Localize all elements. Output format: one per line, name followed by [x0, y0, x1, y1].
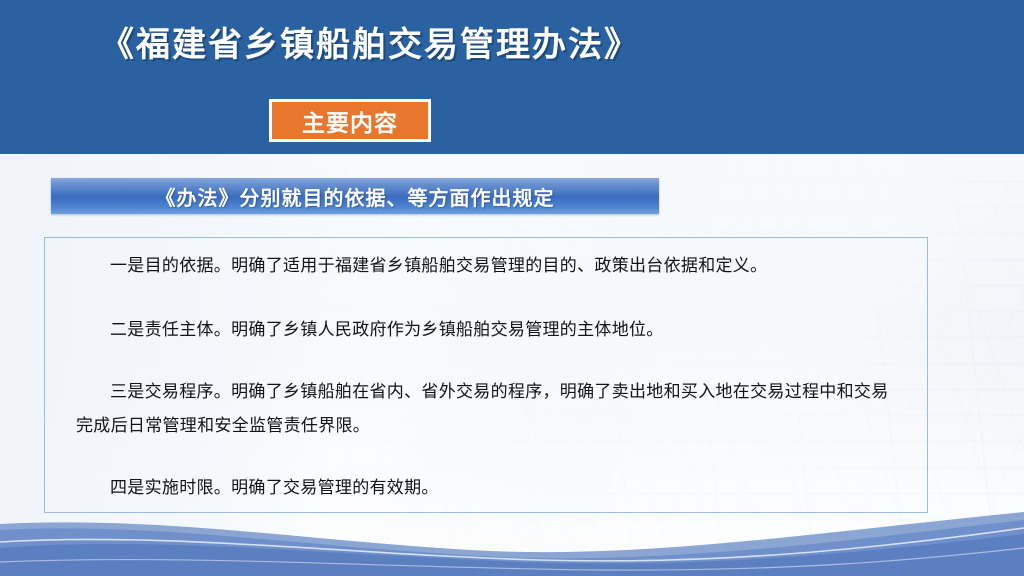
section-title-label: 《办法》分别就目的依据、等方面作出规定: [156, 182, 555, 211]
main-content-badge-label: 主要内容: [302, 104, 398, 138]
content-paragraph-3: 三是交易程序。明确了乡镇船舶在省内、省外交易的程序，明确了卖出地和买入地在交易过…: [76, 375, 902, 443]
content-paragraph-1: 一是目的依据。明确了适用于福建省乡镇船舶交易管理的目的、政策出台依据和定义。: [76, 249, 902, 283]
footer-wave-svg: [0, 496, 1024, 576]
content-paragraph-2: 二是责任主体。明确了乡镇人民政府作为乡镇船舶交易管理的主体地位。: [76, 313, 902, 347]
slide-root: 《福建省乡镇船舶交易管理办法》 主要内容 《办法》分别就目的依据、等方面作出规定…: [0, 0, 1024, 576]
content-box: 一是目的依据。明确了适用于福建省乡镇船舶交易管理的目的、政策出台依据和定义。 二…: [44, 237, 928, 513]
main-content-badge[interactable]: 主要内容: [269, 99, 431, 142]
section-title-bar: 《办法》分别就目的依据、等方面作出规定: [51, 178, 659, 214]
footer-wave-decoration: [0, 496, 1024, 576]
header-band: 《福建省乡镇船舶交易管理办法》 主要内容: [0, 0, 1024, 154]
page-title: 《福建省乡镇船舶交易管理办法》: [0, 17, 740, 66]
